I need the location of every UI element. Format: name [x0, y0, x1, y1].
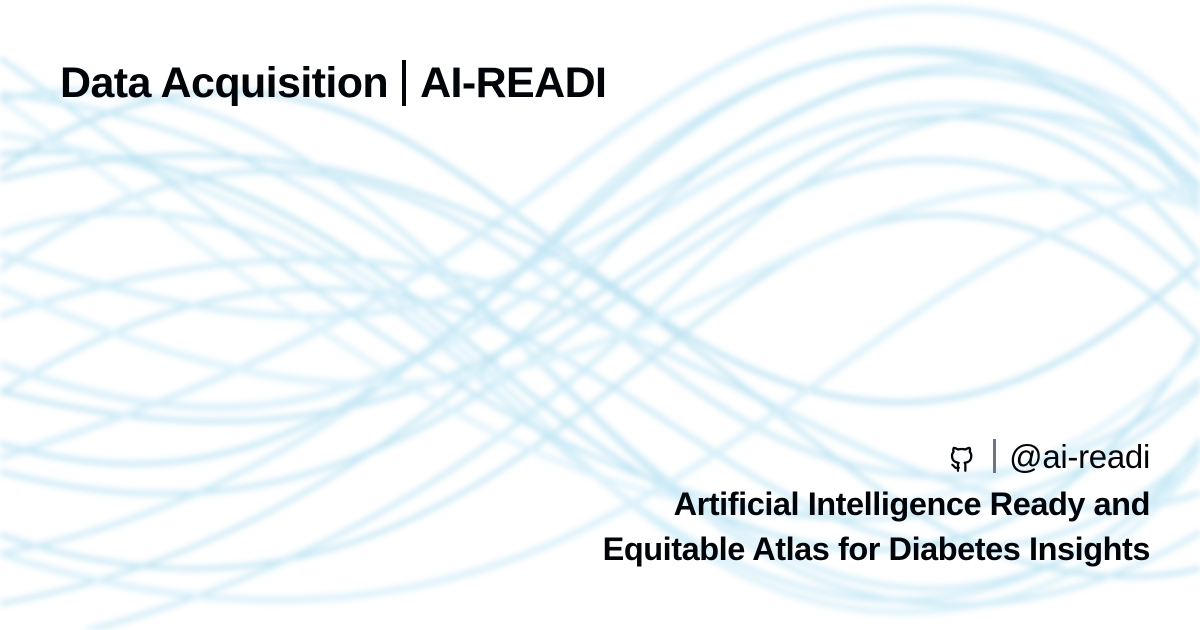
wave-line-10: [0, 117, 1200, 422]
og-card: Data Acquisition AI-READI @ai-readi Arti…: [0, 0, 1200, 630]
project-tagline-line-1: Artificial Intelligence Ready and: [603, 482, 1150, 527]
wave-line-6: [0, 105, 1200, 408]
wave-line-23: [0, 52, 1200, 464]
handle-divider: [993, 439, 996, 473]
github-mark-icon: [946, 439, 980, 473]
page-title: Data Acquisition AI-READI: [60, 60, 606, 106]
project-tagline: Artificial Intelligence Ready and Equita…: [603, 482, 1150, 572]
github-handle-row[interactable]: @ai-readi: [946, 439, 1150, 473]
wave-line-2: [0, 171, 1200, 477]
github-handle-text[interactable]: @ai-readi: [1009, 440, 1150, 473]
wave-line-1: [0, 92, 1200, 402]
page-title-section: Data Acquisition: [60, 62, 388, 105]
title-divider: [402, 60, 406, 106]
footer-block: @ai-readi Artificial Intelligence Ready …: [603, 439, 1150, 572]
page-title-project: AI-READI: [420, 62, 606, 105]
project-tagline-line-2: Equitable Atlas for Diabetes Insights: [603, 527, 1150, 572]
wave-line-24: [0, 186, 1200, 385]
